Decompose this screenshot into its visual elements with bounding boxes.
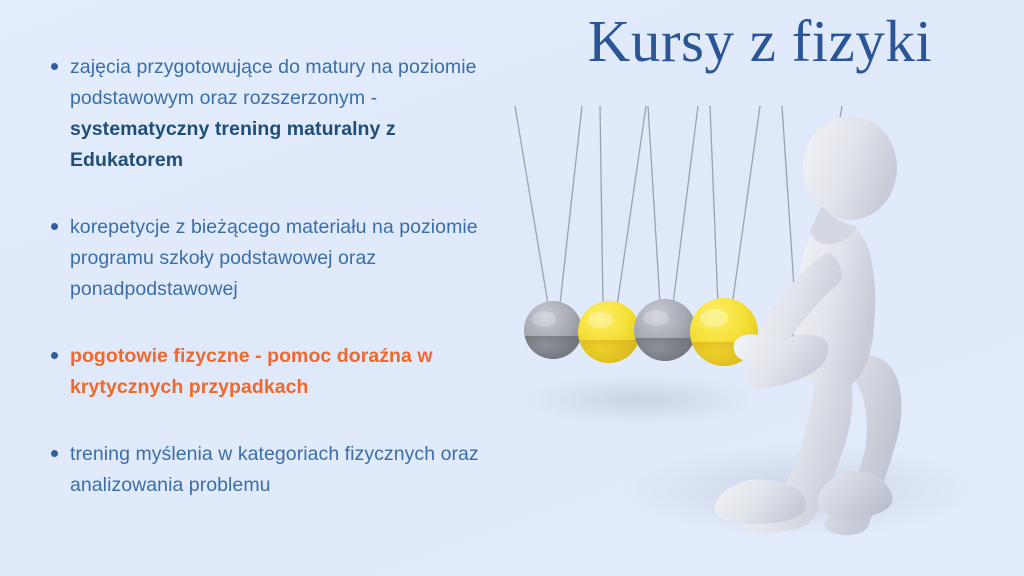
bullet-dot-icon — [51, 63, 58, 70]
ball-shadow — [520, 374, 760, 426]
cradle-ball-1 — [524, 301, 582, 366]
list-item: trening myślenia w kategoriach fizycznyc… — [44, 439, 499, 501]
list-item: korepetycje z bieżącego materiału na poz… — [44, 212, 499, 305]
cradle-ball-2 — [578, 301, 640, 372]
suspension-wires — [515, 106, 842, 306]
slide: Kursy z fizyki zajęcia przygotowujące do… — [0, 0, 1024, 576]
list-item-highlighted: pogotowie fizyczne - pomoc doraźna w kry… — [44, 341, 499, 403]
cradle-ball-3 — [634, 299, 696, 370]
figure-head — [803, 116, 897, 220]
bullet-list: zajęcia przygotowujące do matury na pozi… — [44, 52, 499, 501]
list-item-text: trening myślenia w kategoriach fizycznyc… — [70, 443, 479, 496]
list-item-text: pogotowie fizyczne - pomoc doraźna w kry… — [70, 345, 433, 398]
bullet-dot-icon — [51, 223, 58, 230]
list-item-text: zajęcia przygotowujące do matury na pozi… — [70, 56, 477, 109]
list-item-text: korepetycje z bieżącego materiału na poz… — [70, 216, 478, 300]
page-title: Kursy z fizyki — [545, 6, 975, 76]
newtons-cradle-illustration — [470, 70, 1024, 576]
list-item-text-bold: systematyczny trening maturalny z Edukat… — [70, 118, 396, 171]
bullet-dot-icon — [51, 450, 58, 457]
bullet-dot-icon — [51, 352, 58, 359]
list-item: zajęcia przygotowujące do matury na pozi… — [44, 52, 499, 176]
